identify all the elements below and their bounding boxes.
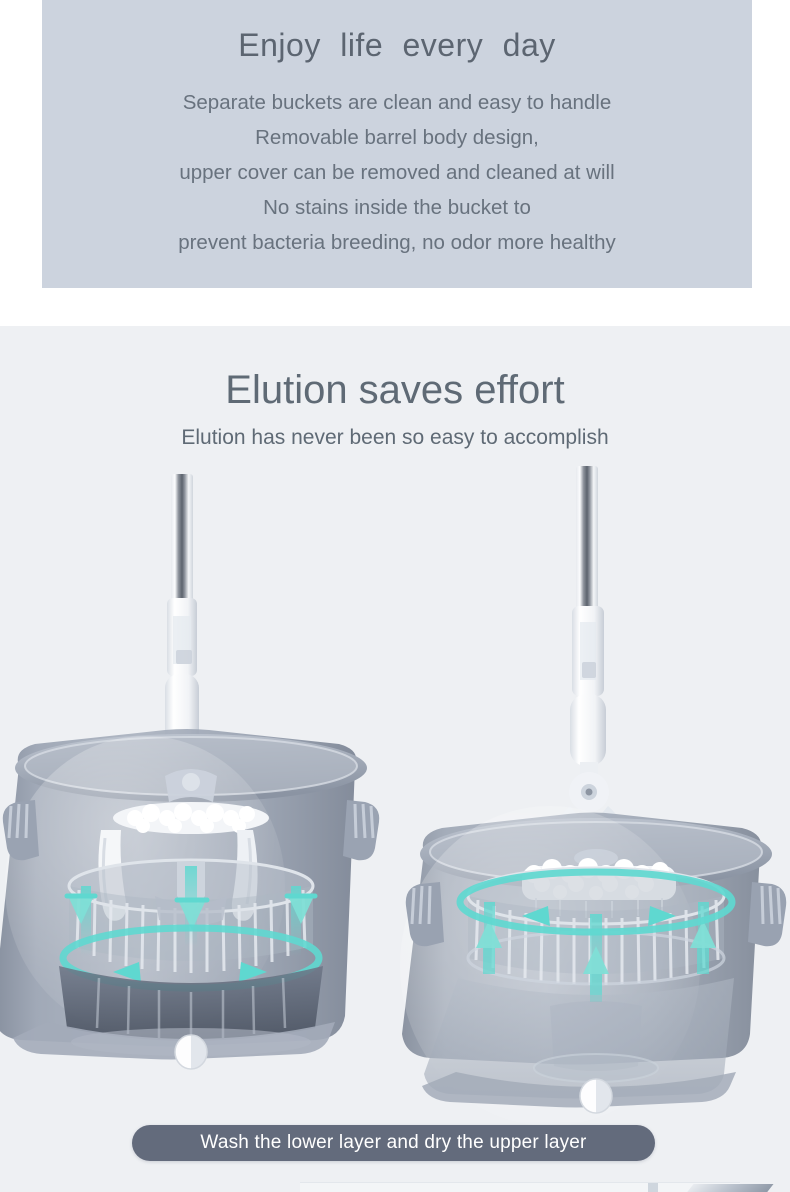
elution-section: Elution saves effort Elution has never b… xyxy=(0,326,790,1192)
product-comparison-stage xyxy=(0,466,790,1126)
intro-line: upper cover can be removed and cleaned a… xyxy=(42,155,752,190)
intro-section: Enjoy life every day Separate buckets ar… xyxy=(0,0,790,326)
elution-title: Elution saves effort xyxy=(0,368,790,412)
product-image-dry-mode xyxy=(400,466,790,1126)
next-section-card xyxy=(300,1182,740,1192)
intro-line: Removable barrel body design, xyxy=(42,120,752,155)
drain-plug-icon xyxy=(580,1079,612,1113)
product-detail-page: Enjoy life every day Separate buckets ar… xyxy=(0,0,790,1192)
intro-description-list: Separate buckets are clean and easy to h… xyxy=(42,85,752,260)
drain-plug-icon xyxy=(175,1035,207,1069)
caption-banner: Wash the lower layer and dry the upper l… xyxy=(132,1125,655,1161)
caption-text: Wash the lower layer and dry the upper l… xyxy=(200,1132,586,1154)
intro-line: Separate buckets are clean and easy to h… xyxy=(42,85,752,120)
next-section-peek xyxy=(0,1180,790,1192)
elution-subtitle: Elution has never been so easy to accomp… xyxy=(0,426,790,450)
intro-title: Enjoy life every day xyxy=(42,28,752,63)
intro-line: No stains inside the bucket to xyxy=(42,190,752,225)
mop-pole xyxy=(550,466,628,852)
intro-line: prevent bacteria breeding, no odor more … xyxy=(42,225,752,260)
intro-panel: Enjoy life every day Separate buckets ar… xyxy=(42,0,752,288)
next-section-rod xyxy=(648,1183,658,1192)
product-image-wash-mode xyxy=(0,466,395,1126)
next-section-blade xyxy=(686,1184,773,1192)
